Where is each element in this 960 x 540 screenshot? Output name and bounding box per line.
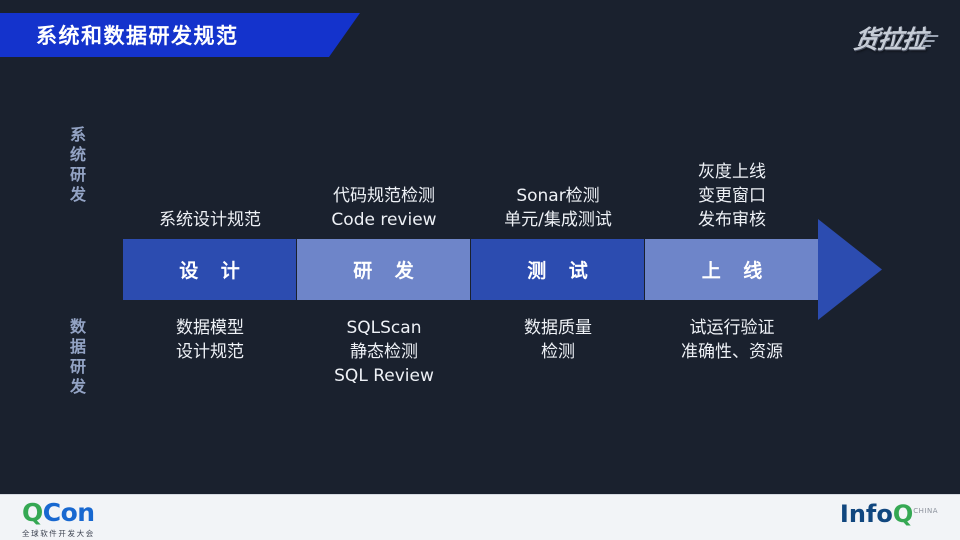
- infoq-logo: InfoQCHINA: [840, 502, 938, 526]
- cell-line: 发布审核: [647, 208, 817, 232]
- cell-line: 设计规范: [125, 340, 295, 364]
- data-cell-develop: SQLScan静态检测SQL Review: [297, 316, 471, 388]
- qcon-logo-con: Con: [43, 498, 95, 527]
- cell-line: 系统设计规范: [125, 208, 295, 232]
- cell-line: SQL Review: [299, 364, 469, 388]
- system-cell-design: 系统设计规范: [123, 208, 297, 232]
- page-title: 系统和数据研发规范: [0, 20, 239, 50]
- footer-bar: QCon 全球软件开发大会 InfoQCHINA: [0, 494, 960, 540]
- qcon-logo-q: Q: [22, 498, 43, 527]
- header-banner: 系统和数据研发规范: [0, 13, 360, 57]
- pipeline-arrow-head-icon: [818, 219, 882, 320]
- system-cell-test: Sonar检测单元/集成测试: [471, 184, 645, 232]
- row-label-system-rnd: 系统研发: [58, 126, 84, 206]
- system-cell-release: 灰度上线变更窗口发布审核: [645, 160, 819, 232]
- lalamove-brand-logo: 货拉拉: [851, 20, 940, 56]
- cell-line: SQLScan: [299, 316, 469, 340]
- cell-line: 检测: [473, 340, 643, 364]
- infoq-logo-q: Q: [893, 500, 913, 528]
- system-row-cells: 系统设计规范 代码规范检测Code review Sonar检测单元/集成测试 …: [123, 132, 819, 232]
- qcon-logo: QCon 全球软件开发大会: [22, 500, 95, 539]
- cell-line: 数据模型: [125, 316, 295, 340]
- cell-line: 数据质量: [473, 316, 643, 340]
- footer-divider: [0, 494, 960, 495]
- infoq-logo-region: CHINA: [913, 507, 938, 515]
- cell-line: 代码规范检测: [299, 184, 469, 208]
- cell-line: Sonar检测: [473, 184, 643, 208]
- cell-line: 试运行验证: [647, 316, 817, 340]
- data-row-cells: 数据模型设计规范 SQLScan静态检测SQL Review 数据质量检测 试运…: [123, 316, 819, 406]
- cell-line: 灰度上线: [647, 160, 817, 184]
- infoq-logo-info: Info: [840, 500, 893, 528]
- qcon-logo-subtitle: 全球软件开发大会: [22, 528, 95, 539]
- pipeline-bar: 设 计 研 发 测 试 上 线: [123, 239, 819, 300]
- cell-line: Code review: [299, 208, 469, 232]
- cell-line: 准确性、资源: [647, 340, 817, 364]
- pipeline-stage-develop[interactable]: 研 发: [297, 239, 471, 300]
- data-cell-design: 数据模型设计规范: [123, 316, 297, 364]
- pipeline-stage-release[interactable]: 上 线: [645, 239, 819, 300]
- brand-logo-text: 货拉拉: [852, 25, 928, 54]
- pipeline-stage-test[interactable]: 测 试: [471, 239, 645, 300]
- data-cell-release: 试运行验证准确性、资源: [645, 316, 819, 364]
- cell-line: 静态检测: [299, 340, 469, 364]
- pipeline-stage-design[interactable]: 设 计: [123, 239, 297, 300]
- cell-line: 变更窗口: [647, 184, 817, 208]
- cell-line: 单元/集成测试: [473, 208, 643, 232]
- brand-logo-speedlines-icon: [922, 32, 939, 50]
- row-label-data-rnd: 数据研发: [58, 318, 84, 398]
- data-cell-test: 数据质量检测: [471, 316, 645, 364]
- qcon-logo-wordmark: QCon: [22, 500, 95, 525]
- system-cell-develop: 代码规范检测Code review: [297, 184, 471, 232]
